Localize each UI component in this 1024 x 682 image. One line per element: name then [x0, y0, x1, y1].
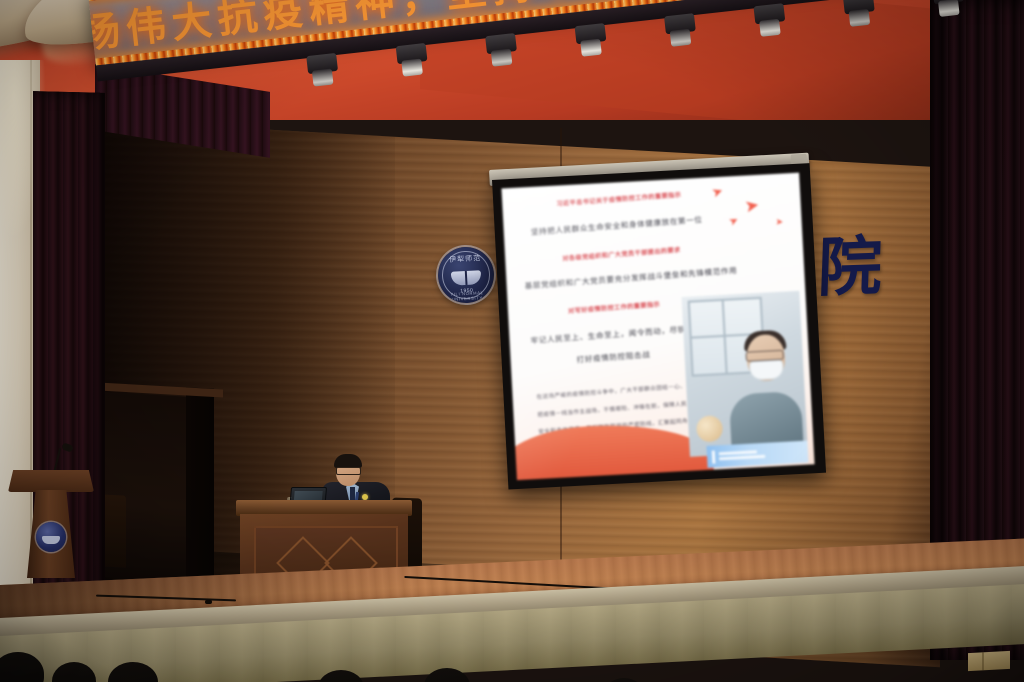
slide-caption-badge — [706, 441, 808, 468]
badge-text-lines — [719, 450, 765, 460]
slide-line-3: 基层党组织和广大党员要充分发挥战斗堡垒和先锋模范作用 — [524, 264, 737, 291]
bird-icon-2: ➤ — [743, 196, 760, 215]
stage-light-1 — [306, 53, 338, 74]
stage-wood-block — [968, 651, 1010, 671]
wall-calligraphy-character: 院 — [817, 235, 883, 301]
bird-icon-4: ➤ — [776, 218, 784, 227]
stage-door-gap — [186, 387, 214, 584]
photo-face-mask-icon — [749, 360, 784, 381]
slide-photo-medical-worker — [681, 291, 807, 457]
slide-line-1: 坚持把人民群众生命安全和身体健康放在第一位 — [530, 214, 702, 238]
lectern-top — [8, 470, 94, 492]
stage-light-3 — [485, 33, 517, 54]
slide-line-0: 习近平总书记关于疫情防控工作的重要指示 — [556, 189, 681, 207]
projection-screen: 习近平总书记关于疫情防控工作的重要指示 坚持把人民群众生命安全和身体健康放在第一… — [492, 163, 826, 489]
speaker-glasses-icon — [336, 467, 361, 475]
stage-light-7 — [843, 0, 875, 14]
lectern — [8, 470, 94, 595]
audience-head-6 — [604, 678, 644, 682]
cable-node-4 — [205, 600, 212, 604]
presentation-slide: 习近平总书记关于疫情防控工作的重要指示 坚持把人民群众生命安全和身体健康放在第一… — [501, 173, 814, 480]
stage-light-5 — [664, 13, 696, 34]
slide-line-2: 对各级党组织和广大党员干部提出的要求 — [562, 245, 681, 263]
slide-wave-front — [501, 420, 713, 480]
stage-light-2 — [396, 43, 428, 64]
stage-light-4 — [575, 23, 607, 44]
slide-line-6: 打好疫情防控阻击战 — [576, 349, 650, 365]
photo-foreground-object — [696, 415, 723, 442]
badge-accent-bar — [712, 450, 716, 463]
bird-icon-1: ➤ — [710, 183, 725, 199]
stage-light-8 — [932, 0, 964, 4]
slide-line-8: 把疫情一线当作主战场，不惧艰险、冲锋在前，保障人民生命 — [537, 399, 699, 419]
university-emblem-wall: 伊犁师范 1950 YILI NORMAL UNIVERSITY — [437, 246, 496, 305]
slide-line-4: 对写好疫情防控工作的重要指示 — [567, 299, 660, 315]
slide-birds-graphic: ➤ ➤ ➤ ➤ — [700, 179, 795, 242]
bird-icon-3: ➤ — [728, 215, 741, 229]
lecture-hall-photo: 院 伊犁师范 1950 YILI NORMAL UNIVERSITY 弘扬伟大抗… — [0, 0, 1024, 682]
stage-light-6 — [753, 3, 785, 24]
lectern-university-crest — [36, 522, 66, 552]
speaker-hair — [334, 454, 362, 468]
